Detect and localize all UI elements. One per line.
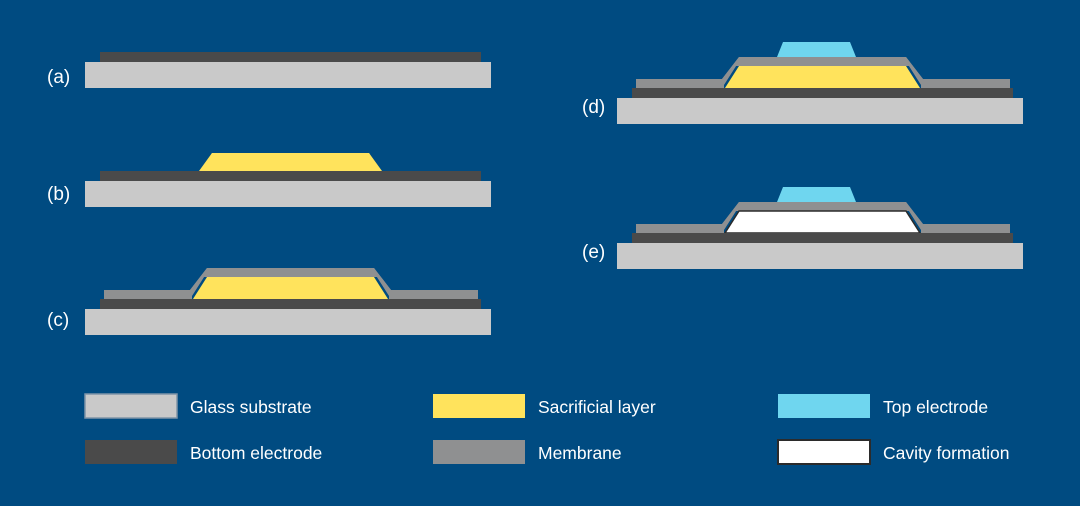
legend-item-cavity-formation: Cavity formation — [778, 440, 1009, 464]
panel-c: (c) — [47, 268, 491, 335]
legend-item-sacrificial-layer: Sacrificial layer — [433, 394, 656, 418]
panel-e: (e) — [582, 187, 1023, 269]
panel-a-glass-substrate — [85, 62, 491, 88]
panel-d-sacrificial-layer — [725, 66, 920, 88]
legend-label-sacrificial-layer: Sacrificial layer — [538, 397, 656, 417]
panel-c-glass-substrate — [85, 309, 491, 335]
panel-d-bottom-electrode — [632, 88, 1013, 98]
panel-c-bottom-electrode — [100, 299, 481, 309]
panel-e-membrane-left-flat — [636, 224, 724, 233]
panel-e-label: (e) — [582, 242, 605, 263]
legend-swatch-glass-substrate — [85, 394, 177, 418]
legend-label-membrane: Membrane — [538, 443, 622, 463]
panel-c-membrane-right-flat — [389, 290, 478, 299]
panel-b-bottom-electrode — [100, 171, 481, 181]
panel-b: (b) — [47, 153, 491, 207]
panel-a-bottom-electrode — [100, 52, 481, 62]
legend: Glass substrate Bottom electrode Sacrifi… — [85, 394, 1009, 464]
legend-column-2: Sacrificial layer Membrane — [433, 394, 656, 464]
panel-c-label: (c) — [47, 310, 69, 331]
legend-swatch-cavity-formation — [778, 440, 870, 464]
panel-d: (d) — [582, 42, 1023, 124]
legend-item-glass-substrate: Glass substrate — [85, 394, 312, 418]
process-flow-diagram: (a) (b) (c) — [0, 0, 1080, 506]
panel-e-cavity — [725, 211, 920, 233]
panel-d-label: (d) — [582, 97, 605, 118]
panel-d-membrane-left-flat — [636, 79, 724, 88]
legend-column-1: Glass substrate Bottom electrode — [85, 394, 322, 464]
legend-label-glass-substrate: Glass substrate — [190, 397, 312, 417]
panel-b-sacrificial-layer-base — [199, 153, 382, 171]
legend-swatch-top-electrode — [778, 394, 870, 418]
panel-e-bottom-electrode — [632, 233, 1013, 243]
panel-c-sacrificial-layer — [193, 277, 388, 299]
panel-c-membrane-left-flat — [104, 290, 192, 299]
figure-canvas: (a) (b) (c) — [0, 0, 1080, 506]
panel-d-glass-substrate — [617, 98, 1023, 124]
panel-a-label: (a) — [47, 67, 70, 88]
legend-item-bottom-electrode: Bottom electrode — [85, 440, 322, 464]
panel-e-glass-substrate — [617, 243, 1023, 269]
panel-b-glass-substrate — [85, 181, 491, 207]
legend-swatch-membrane — [433, 440, 525, 464]
legend-column-3: Top electrode Cavity formation — [778, 394, 1009, 464]
legend-label-top-electrode: Top electrode — [883, 397, 988, 417]
legend-swatch-bottom-electrode — [85, 440, 177, 464]
legend-item-membrane: Membrane — [433, 440, 622, 464]
legend-item-top-electrode: Top electrode — [778, 394, 988, 418]
legend-swatch-sacrificial-layer — [433, 394, 525, 418]
panel-b-label: (b) — [47, 184, 70, 205]
panel-d-membrane-right-flat — [921, 79, 1010, 88]
legend-label-bottom-electrode: Bottom electrode — [190, 443, 322, 463]
legend-label-cavity-formation: Cavity formation — [883, 443, 1009, 463]
panel-e-membrane-right-flat — [921, 224, 1010, 233]
panel-a: (a) — [47, 52, 491, 88]
